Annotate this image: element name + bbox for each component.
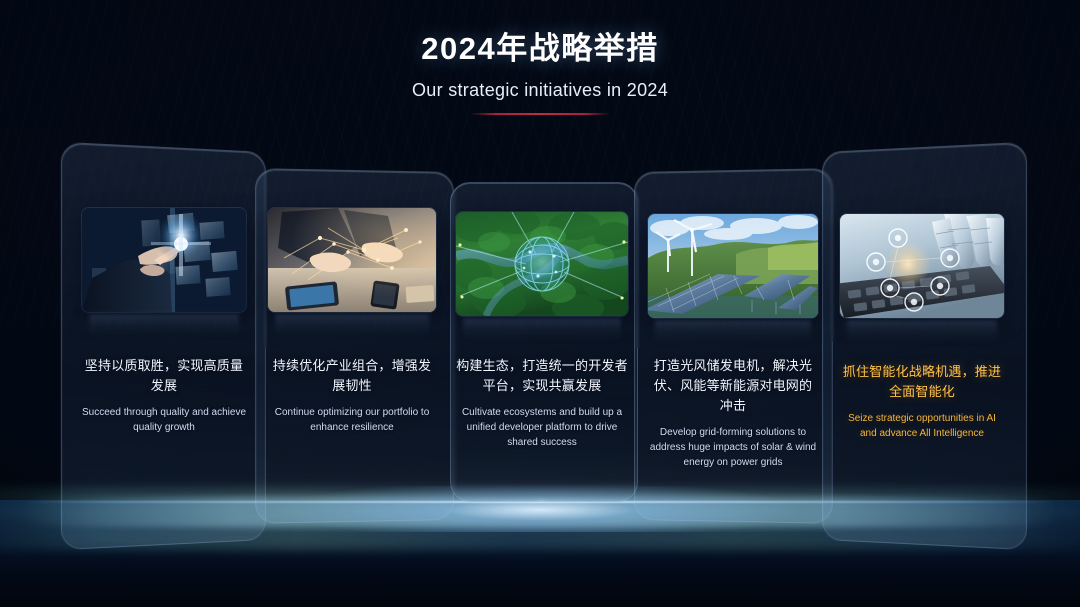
card-title-chinese: 持续优化产业组合，增强发展韧性: [268, 356, 436, 396]
page-title-chinese: 2024年战略举措: [0, 30, 1080, 67]
initiative-card-ecosystem[interactable]: 构建生态，打造统一的开发者平台，实现共赢发展 Cultivate ecosyst…: [456, 212, 628, 450]
card-title-english: Succeed through quality and achieve qual…: [82, 405, 246, 435]
card-title-chinese: 坚持以质取胜，实现高质量发展: [82, 356, 246, 396]
card-title-chinese: 构建生态，打造统一的开发者平台，实现共赢发展: [456, 356, 628, 396]
page-title-english: Our strategic initiatives in 2024: [0, 80, 1080, 101]
initiative-card-intelligence[interactable]: 抓住智能化战略机遇，推进全面智能化 Seize strategic opport…: [840, 214, 1004, 441]
card-title-chinese: 抓住智能化战略机遇，推进全面智能化: [840, 362, 1004, 402]
card-title-english: Develop grid-forming solutions to addres…: [648, 425, 818, 470]
card-title-chinese: 打造光风储发电机，解决光伏、风能等新能源对电网的冲击: [648, 356, 818, 416]
initiative-card-quality[interactable]: 坚持以质取胜，实现高质量发展 Succeed through quality a…: [82, 208, 246, 435]
card-text-block: 抓住智能化战略机遇，推进全面智能化 Seize strategic opport…: [840, 362, 1004, 441]
slide-header: 2024年战略举措 Our strategic initiatives in 2…: [0, 30, 1080, 115]
card-text-block: 持续优化产业组合，增强发展韧性 Continue optimizing our …: [268, 356, 436, 435]
thumbnail-reflection: [463, 318, 621, 340]
card-text-block: 坚持以质取胜，实现高质量发展 Succeed through quality a…: [82, 356, 246, 435]
thumbnail-reflection: [655, 320, 811, 342]
card-title-english: Cultivate ecosystems and build up a unif…: [456, 405, 628, 450]
card-text-block: 打造光风储发电机，解决光伏、风能等新能源对电网的冲击 Develop grid-…: [648, 356, 818, 470]
thumbnail-reflection: [89, 314, 240, 336]
hand-touching-digital-screens-image: [82, 208, 246, 312]
card-title-english: Continue optimizing our portfolio to enh…: [268, 405, 436, 435]
title-divider: [470, 113, 610, 115]
solar-panels-wind-turbines-image: [648, 214, 818, 318]
business-desk-devices-network-image: [268, 208, 436, 312]
initiative-card-energy[interactable]: 打造光风储发电机，解决光伏、风能等新能源对电网的冲击 Develop grid-…: [648, 214, 818, 470]
card-title-english: Seize strategic opportunities in AI and …: [840, 411, 1004, 441]
card-text-block: 构建生态，打造统一的开发者平台，实现共赢发展 Cultivate ecosyst…: [456, 356, 628, 450]
thumbnail-reflection: [847, 320, 998, 342]
thumbnail-reflection: [275, 314, 430, 336]
green-forest-digital-globe-image: [456, 212, 628, 316]
initiative-card-portfolio[interactable]: 持续优化产业组合，增强发展韧性 Continue optimizing our …: [268, 208, 436, 435]
robotic-hand-keyboard-ai-icons-image: [840, 214, 1004, 318]
